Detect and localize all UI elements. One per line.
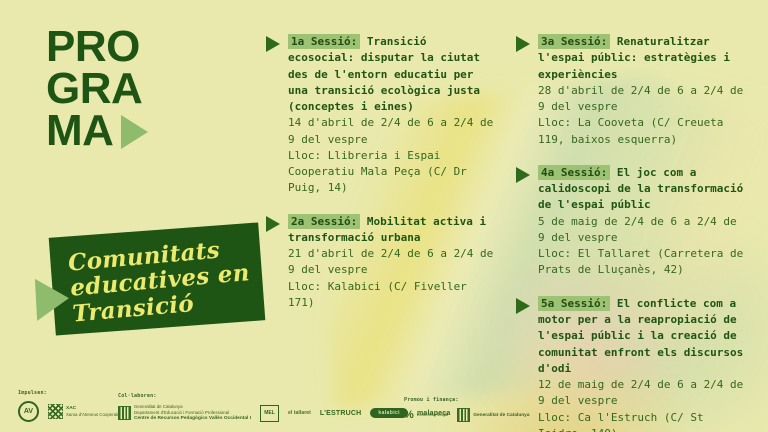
logo-generalitat-educacio: Generalitat de Catalunya Departament d'E…: [118, 404, 251, 422]
triangle-bullet-icon: [516, 298, 530, 314]
poster-canvas: PRO GRA MA Comunitats educatives en Tran…: [0, 0, 768, 432]
estruch-icon: L'ESTRUCH: [320, 410, 362, 417]
footer-impulsen-group: Impulsen: AV XAC Xarxa d'Ateneus Coopera…: [18, 390, 123, 422]
session-date: 5 de maig de 2/4 de 6 a 2/4 de 9 del ves…: [538, 214, 748, 247]
footer: Impulsen: AV XAC Xarxa d'Ateneus Coopera…: [0, 378, 768, 426]
footer-collaboren-logos: Generalitat de Catalunya Departament d'E…: [118, 404, 450, 422]
session-place: Lloc: Kalabici (C/ Fiveller 171): [288, 279, 498, 312]
session-heading: 4a Sessió: El joc com a calidoscopi de l…: [516, 165, 748, 214]
title-line-1: PRO: [46, 26, 148, 68]
session-heading: 1a Sessió: Transició ecosocial: disputar…: [266, 34, 498, 115]
session-date: 21 d'abril de 2/4 de 6 a 2/4 de 9 del ve…: [288, 246, 498, 279]
logo-xac-caption: Xarxa d'Ateneus Cooperatius: [66, 412, 123, 418]
triangle-bullet-icon: [516, 36, 530, 52]
session-item: 3a Sessió: Renaturalitzar l'espai públic…: [516, 34, 748, 148]
page-title: PRO GRA MA: [46, 26, 148, 153]
triangle-bullet-icon: [516, 167, 530, 183]
brand-badge: Comunitats educatives en Transició: [22, 222, 260, 342]
footer-impulsen-logos: AV XAC Xarxa d'Ateneus Cooperatius: [18, 401, 123, 422]
xac-weave-icon: [48, 404, 63, 419]
triangle-bullet-icon: [266, 216, 280, 232]
session-item: 1a Sessió: Transició ecosocial: disputar…: [266, 34, 498, 197]
generalitat-bars-icon: [118, 406, 131, 420]
session-label: 4a Sessió:: [538, 165, 610, 180]
session-place: Lloc: El Tallaret (Carretera de Prats de…: [538, 246, 748, 279]
title-line-2: GRA: [46, 68, 148, 110]
logo-generalitat-text: Generalitat de Catalunya Departament d'E…: [134, 404, 251, 422]
footer-promou-label: Promou i finança:: [404, 397, 530, 403]
av-circle-icon: AV: [18, 401, 39, 422]
logo-generalitat-name-2: Generalitat de Catalunya: [473, 412, 529, 419]
session-meta: 21 d'abril de 2/4 de 6 a 2/4 de 9 del ve…: [266, 246, 498, 311]
title-line-3: MA: [46, 110, 113, 152]
title-line-3-row: MA: [46, 110, 148, 152]
triangle-bullet-icon: [266, 36, 280, 52]
session-item: 4a Sessió: El joc com a calidoscopi de l…: [516, 165, 748, 279]
session-place: Lloc: La Cooveta (C/ Creueta 119, baixos…: [538, 115, 748, 148]
logo-av: AV: [18, 401, 39, 422]
footer-promou-logos: % economia social Generalitat de Catalun…: [404, 408, 530, 422]
triangle-icon: [121, 115, 148, 149]
tallaret-icon: el tallaret: [288, 410, 311, 416]
session-item: 2a Sessió: Mobilitat activa i transforma…: [266, 214, 498, 312]
footer-promou-group: Promou i finança: % economia social Gene…: [404, 397, 530, 422]
session-heading: 2a Sessió: Mobilitat activa i transforma…: [266, 214, 498, 247]
session-label: 2a Sessió:: [288, 214, 360, 229]
generalitat-bars-icon: [457, 408, 470, 422]
logo-xac-text: XAC Xarxa d'Ateneus Cooperatius: [66, 405, 123, 417]
mel-icon: MEL: [260, 405, 279, 422]
footer-collaboren-group: Col·laboren: Generalitat de Catalunya De…: [118, 393, 450, 422]
kalabici-icon: kalabici: [370, 408, 408, 418]
logo-generalitat: Generalitat de Catalunya: [457, 408, 529, 422]
percent-icon: %: [404, 409, 414, 421]
brand-triangle-icon: [35, 277, 70, 321]
logo-generalitat-label: Generalitat de Catalunya: [473, 413, 529, 418]
footer-collaboren-label: Col·laboren:: [118, 393, 450, 399]
logo-crp-caption: Centre de Recursos Pedagògics Vallès Occ…: [134, 416, 251, 421]
session-place: Lloc: Llibreria i Espai Cooperatiu Mala …: [288, 148, 498, 197]
session-heading: 3a Sessió: Renaturalitzar l'espai públic…: [516, 34, 748, 83]
session-meta: 14 d'abril de 2/4 de 6 a 2/4 de 9 del ve…: [266, 115, 498, 196]
session-label: 5a Sessió:: [538, 296, 610, 311]
logo-xac-name: XAC: [66, 406, 76, 411]
logo-xac: XAC Xarxa d'Ateneus Cooperatius: [48, 404, 123, 419]
session-column-right: 3a Sessió: Renaturalitzar l'espai públic…: [516, 34, 748, 432]
session-label: 3a Sessió:: [538, 34, 610, 49]
session-column-left: 1a Sessió: Transició ecosocial: disputar…: [266, 34, 498, 328]
session-heading: 5a Sessió: El conflicte com a motor per …: [516, 296, 748, 377]
logo-economia-social: % economia social: [404, 409, 448, 421]
session-meta: 28 d'abril de 2/4 de 6 a 2/4 de 9 del ve…: [516, 83, 748, 148]
session-date: 28 d'abril de 2/4 de 6 a 2/4 de 9 del ve…: [538, 83, 748, 116]
session-date: 14 d'abril de 2/4 de 6 a 2/4 de 9 del ve…: [288, 115, 498, 148]
session-meta: 5 de maig de 2/4 de 6 a 2/4 de 9 del ves…: [516, 214, 748, 279]
logo-generalitat-caption: Departament d'Educació i Formació Profes…: [134, 410, 251, 416]
logo-economia-social-caption: economia social: [417, 412, 448, 418]
session-label: 1a Sessió:: [288, 34, 360, 49]
footer-impulsen-label: Impulsen:: [18, 390, 123, 396]
